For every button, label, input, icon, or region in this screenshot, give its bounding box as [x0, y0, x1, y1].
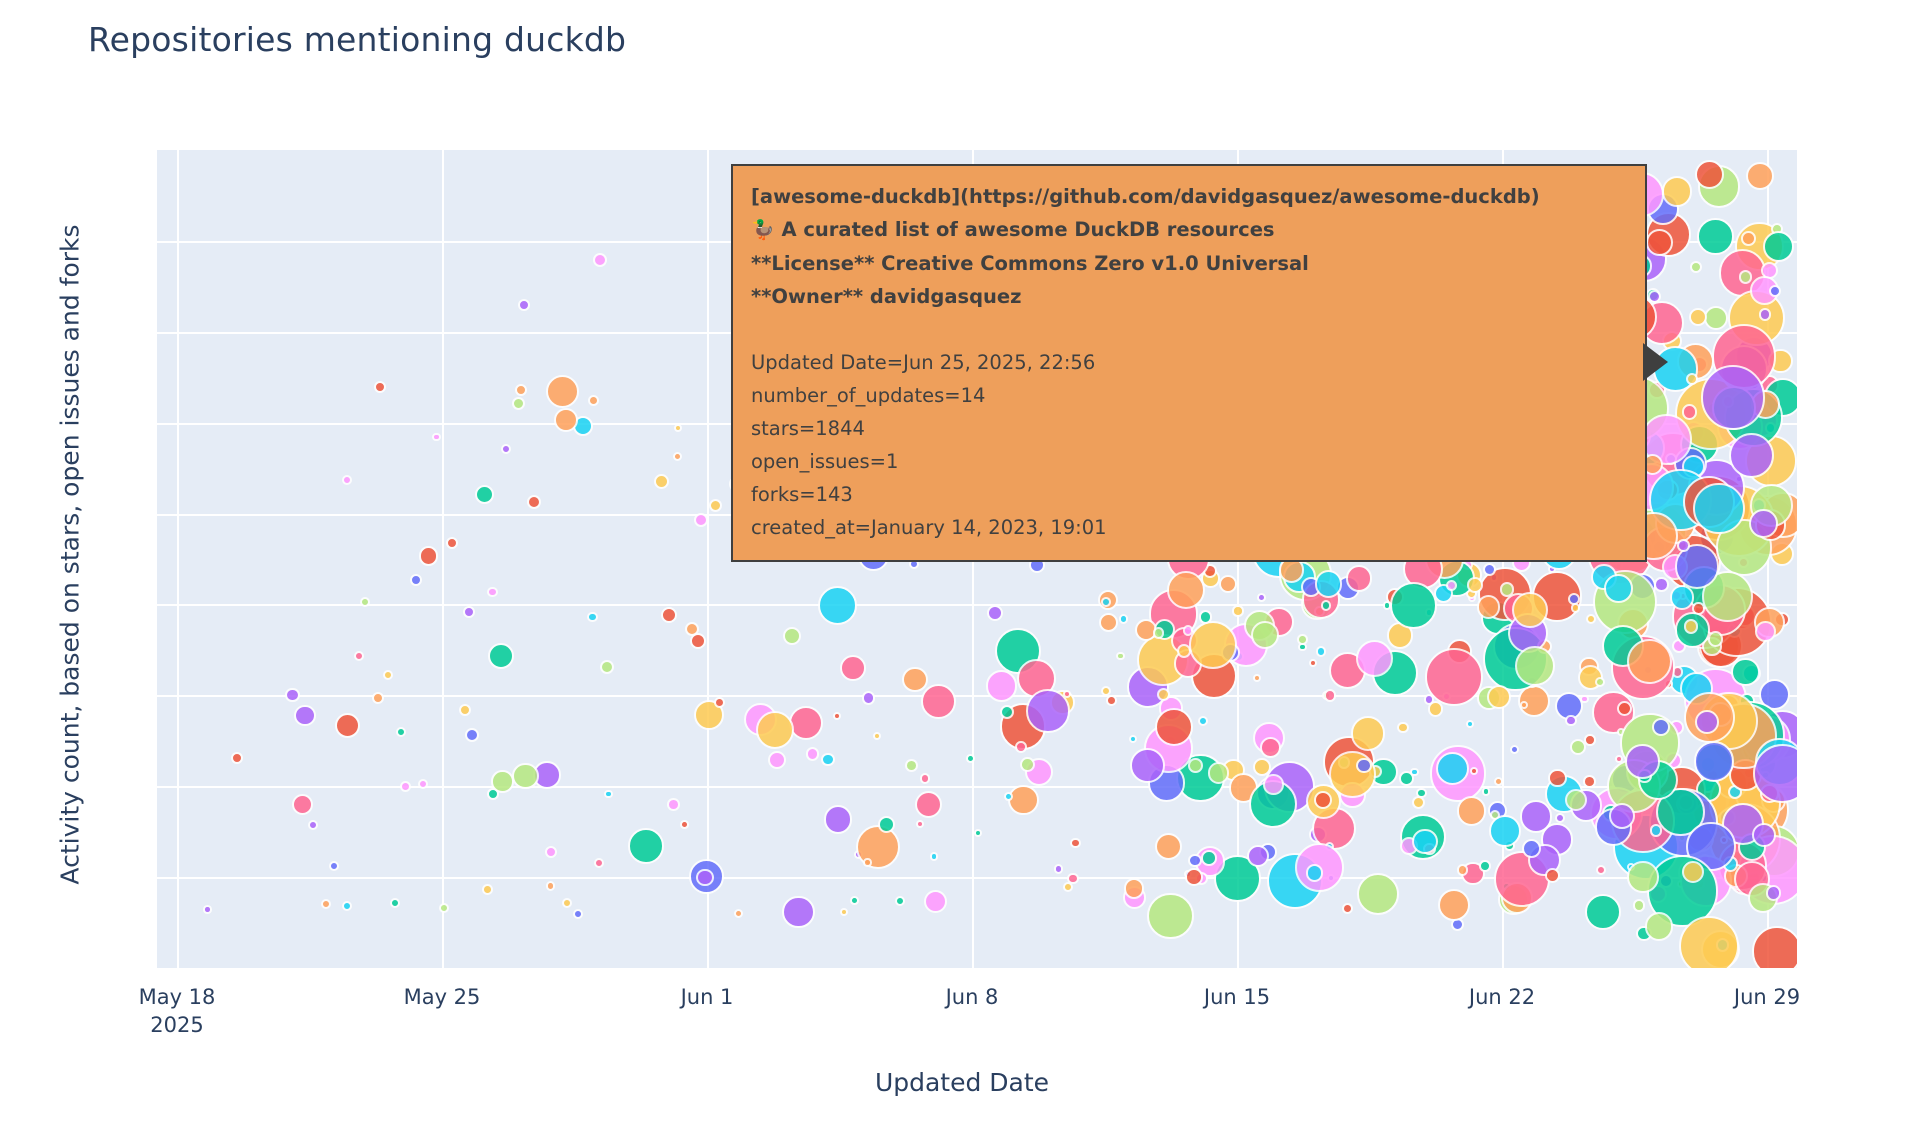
scatter-bubble[interactable] [400, 781, 411, 792]
scatter-bubble[interactable] [1257, 593, 1266, 602]
scatter-bubble[interactable] [1147, 893, 1194, 940]
x-tick-text: May 25 [404, 985, 481, 1009]
scatter-bubble[interactable] [1684, 619, 1698, 633]
scatter-bubble[interactable] [1596, 865, 1606, 875]
scatter-bubble[interactable] [1099, 613, 1119, 633]
scatter-bubble[interactable] [1436, 752, 1469, 785]
x-axis-title: Updated Date [0, 1068, 1924, 1097]
scatter-bubble[interactable] [1321, 600, 1331, 610]
scatter-bubble[interactable] [1198, 716, 1209, 727]
scatter-bubble[interactable] [680, 820, 689, 829]
page-title: Repositories mentioning duckdb [88, 20, 626, 59]
scatter-bubble[interactable] [593, 253, 607, 267]
scatter-bubble[interactable] [1487, 685, 1511, 709]
tooltip-license: **License** Creative Commons Zero v1.0 U… [751, 247, 1627, 280]
scatter-bubble[interactable] [546, 375, 579, 408]
scatter-bubble[interactable] [342, 475, 352, 485]
scatter-bubble[interactable] [1682, 404, 1697, 419]
scatter-bubble[interactable] [1583, 775, 1596, 788]
scatter-bubble[interactable] [419, 546, 439, 566]
scatter-bubble[interactable] [1627, 861, 1658, 892]
scatter-bubble[interactable] [862, 691, 876, 705]
scatter-bubble[interactable] [1489, 815, 1521, 847]
scatter-bubble[interactable] [1755, 621, 1776, 642]
scatter-bubble[interactable] [432, 433, 440, 441]
scatter-bubble[interactable] [1670, 585, 1695, 610]
scatter-bubble[interactable] [1438, 889, 1471, 922]
scatter-bubble[interactable] [1697, 218, 1734, 255]
scatter-bubble[interactable] [1054, 864, 1064, 874]
scatter-bubble[interactable] [573, 909, 583, 919]
scatter-bubble[interactable] [491, 770, 513, 792]
scatter-bubble[interactable] [487, 587, 497, 597]
scatter-bubble[interactable] [1708, 631, 1724, 647]
scatter-bubble[interactable] [1645, 912, 1674, 941]
scatter-bubble[interactable] [1351, 716, 1386, 751]
duck-icon: 🦆 [751, 219, 775, 241]
scatter-bubble[interactable] [1759, 308, 1771, 320]
scatter-bubble[interactable] [231, 752, 243, 764]
scatter-bubble[interactable] [1247, 845, 1269, 867]
scatter-bubble[interactable] [1316, 646, 1326, 656]
scatter-bubble[interactable] [410, 574, 422, 586]
scatter-bubble[interactable] [1428, 701, 1444, 717]
scatter-bubble[interactable] [354, 651, 364, 661]
scatter-bubble[interactable] [512, 397, 525, 410]
hover-tooltip: [awesome-duckdb](https://github.com/davi… [731, 164, 1647, 562]
scatter-bubble[interactable] [1251, 621, 1279, 649]
scatter-bubble[interactable] [475, 485, 495, 505]
scatter-bubble[interactable] [1633, 899, 1645, 911]
scatter-bubble[interactable] [335, 713, 360, 738]
scatter-bubble[interactable] [915, 791, 942, 818]
gridline-vertical [707, 150, 709, 968]
scatter-bubble[interactable] [1693, 483, 1744, 534]
scatter-bubble[interactable] [1390, 582, 1437, 629]
scatter-bubble[interactable] [1466, 720, 1474, 728]
scatter-bubble[interactable] [987, 605, 1003, 621]
scatter-bubble[interactable] [1263, 774, 1284, 795]
scatter-bubble[interactable] [1155, 833, 1182, 860]
scatter-bubble[interactable] [1208, 762, 1230, 784]
x-tick-text: Jun 1 [681, 985, 734, 1009]
scatter-bubble[interactable] [1749, 509, 1778, 538]
scatter-bubble[interactable] [734, 909, 743, 918]
scatter-bubble[interactable] [661, 607, 678, 624]
scatter-bubble[interactable] [921, 684, 956, 719]
scatter-bubble[interactable] [1119, 614, 1128, 623]
scatter-bubble[interactable] [1520, 701, 1528, 709]
scatter-bubble[interactable] [1548, 769, 1566, 787]
scatter-bubble[interactable] [1746, 162, 1774, 190]
x-axis-tick-label: Jun 29 [1734, 985, 1800, 1009]
scatter-bubble[interactable] [1346, 565, 1372, 591]
scatter-bubble[interactable] [1704, 306, 1728, 330]
scatter-bubble[interactable] [1356, 758, 1372, 774]
scatter-bubble[interactable] [482, 884, 493, 895]
gridline-vertical [177, 150, 179, 968]
scatter-bubble[interactable] [501, 444, 511, 454]
scatter-bubble[interactable] [1183, 625, 1193, 635]
scatter-bubble[interactable] [518, 299, 530, 311]
scatter-bubble[interactable] [1555, 813, 1565, 823]
scatter-bubble[interactable] [600, 660, 614, 674]
scatter-bubble[interactable] [1130, 748, 1165, 783]
scatter-bubble[interactable] [1177, 644, 1191, 658]
scatter-bubble[interactable] [342, 901, 352, 911]
scatter-bubble[interactable] [628, 828, 664, 864]
scatter-bubble[interactable] [1067, 873, 1079, 885]
scatter-bubble[interactable] [1153, 627, 1165, 639]
scatter-bubble[interactable] [1752, 926, 1797, 968]
scatter-bubble[interactable] [714, 697, 725, 708]
scatter-bubble[interactable] [321, 899, 331, 909]
scatter-bubble[interactable] [1070, 838, 1081, 849]
scatter-bubble[interactable] [292, 794, 313, 815]
x-tick-text: May 18 [139, 985, 216, 1009]
scatter-bubble[interactable] [512, 763, 538, 789]
gridline-vertical [442, 150, 444, 968]
scatter-bubble[interactable] [1565, 789, 1587, 811]
scatter-bubble[interactable] [1520, 800, 1553, 833]
tooltip-description-text: A curated list of awesome DuckDB resourc… [781, 218, 1274, 241]
scatter-bubble[interactable] [818, 586, 857, 625]
scatter-bubble[interactable] [1690, 261, 1703, 274]
scatter-bubble[interactable] [1106, 695, 1117, 706]
x-axis-tick-label: Jun 15 [1204, 985, 1270, 1009]
scatter-bubble[interactable] [1479, 860, 1491, 872]
tooltip-pointer-arrow [1645, 345, 1667, 379]
scatter-bubble[interactable] [383, 670, 393, 680]
scatter-bubble[interactable] [986, 670, 1017, 701]
scatter-bubble[interactable] [1604, 574, 1633, 603]
scatter-bubble[interactable] [806, 747, 820, 761]
scatter-bubble[interactable] [850, 896, 859, 905]
scatter-bubble[interactable] [1342, 903, 1353, 914]
scatter-bubble[interactable] [554, 408, 578, 432]
scatter-bubble[interactable] [654, 474, 669, 489]
scatter-bubble[interactable] [1219, 575, 1237, 593]
scatter-bubble[interactable] [1769, 285, 1781, 297]
scatter-bubble[interactable] [768, 751, 787, 770]
scatter-bubble[interactable] [783, 627, 801, 645]
scatter-bubble[interactable] [439, 903, 449, 913]
scatter-bubble[interactable] [1199, 610, 1213, 624]
scatter-bubble[interactable] [1201, 850, 1217, 866]
scatter-bubble[interactable] [756, 711, 794, 749]
scatter-bubble[interactable] [1682, 861, 1704, 883]
scatter-bubble[interactable] [285, 688, 300, 703]
scatter-bubble[interactable] [856, 825, 900, 869]
scatter-bubble[interactable] [782, 896, 814, 928]
scatter-bubble[interactable] [1315, 570, 1343, 598]
scatter-bubble[interactable] [1731, 658, 1759, 686]
scatter-bubble[interactable] [527, 495, 541, 509]
scatter-bubble[interactable] [821, 753, 835, 767]
scatter-bubble[interactable] [562, 898, 572, 908]
scatter-bubble[interactable] [1297, 634, 1308, 645]
tooltip-forks: forks=143 [751, 478, 1627, 511]
scatter-bubble[interactable] [308, 820, 318, 830]
tooltip-updated-date: Updated Date=Jun 25, 2025, 22:56 [751, 346, 1627, 379]
scatter-bubble[interactable] [1510, 745, 1519, 754]
scatter-bubble[interactable] [824, 805, 853, 834]
scatter-bubble[interactable] [667, 798, 680, 811]
scatter-bubble[interactable] [203, 905, 212, 914]
x-tick-text: Jun 15 [1204, 985, 1270, 1009]
scatter-bubble[interactable] [1515, 646, 1555, 686]
scatter-bubble[interactable] [515, 384, 527, 396]
x-axis-tick-label: Jun 1 [681, 985, 734, 1009]
scatter-bubble[interactable] [840, 655, 866, 681]
scatter-bubble[interactable] [1167, 571, 1205, 609]
scatter-bubble[interactable] [1766, 885, 1782, 901]
scatter-bubble[interactable] [1627, 639, 1672, 684]
tooltip-open-issues: open_issues=1 [751, 445, 1627, 478]
scatter-bubble[interactable] [1625, 744, 1660, 779]
scatter-bubble[interactable] [1185, 868, 1203, 886]
scatter-bubble[interactable] [920, 773, 930, 783]
scatter-bubble[interactable] [863, 858, 872, 867]
scatter-bubble[interactable] [588, 395, 599, 406]
scatter-bubble[interactable] [1309, 659, 1317, 667]
scatter-bubble[interactable] [1015, 741, 1027, 753]
scatter-bubble[interactable] [674, 424, 682, 432]
scatter-bubble[interactable] [1679, 916, 1739, 968]
scatter-bubble[interactable] [1586, 614, 1596, 624]
scatter-bubble[interactable] [1232, 605, 1243, 616]
scatter-bubble[interactable] [1008, 785, 1039, 816]
scatter-bubble[interactable] [594, 858, 605, 869]
tooltip-created-at: created_at=January 14, 2023, 19:01 [751, 511, 1627, 544]
scatter-bubble[interactable] [840, 908, 848, 916]
scatter-bubble[interactable] [329, 861, 339, 871]
scatter-bubble[interactable] [1129, 735, 1137, 743]
scatter-bubble[interactable] [1585, 894, 1621, 930]
scatter-bubble[interactable] [1646, 229, 1673, 256]
scatter-bubble[interactable] [1412, 796, 1425, 809]
gridline-horizontal [157, 695, 1797, 697]
scatter-bubble[interactable] [694, 513, 708, 527]
scatter-bubble[interactable] [1020, 757, 1035, 772]
scatter-bubble[interactable] [1695, 710, 1719, 734]
x-tick-year: 2025 [139, 1013, 216, 1037]
scatter-bubble[interactable] [789, 706, 823, 740]
scatter-bubble[interactable] [1397, 722, 1409, 734]
scatter-bubble[interactable] [1694, 741, 1734, 781]
scatter-bubble[interactable] [1253, 674, 1261, 682]
tooltip-stars: stars=1844 [751, 412, 1627, 445]
tooltip-spacer [751, 313, 1627, 346]
scatter-bubble[interactable] [1701, 365, 1765, 429]
scatter-bubble[interactable] [488, 643, 515, 670]
scatter-bubble[interactable] [1399, 771, 1414, 786]
scatter-bubble[interactable] [974, 829, 982, 837]
scatter-bubble[interactable] [1467, 577, 1483, 593]
scatter-bubble[interactable] [1482, 787, 1491, 796]
scatter-bubble[interactable] [1545, 868, 1560, 883]
x-tick-text: Jun 8 [946, 985, 999, 1009]
scatter-bubble[interactable] [902, 667, 927, 692]
scatter-bubble[interactable] [546, 881, 555, 890]
scatter-bubble[interactable] [930, 852, 939, 861]
x-tick-text: Jun 22 [1469, 985, 1535, 1009]
scatter-bubble[interactable] [1260, 737, 1281, 758]
scatter-bubble[interactable] [1101, 686, 1111, 696]
scatter-bubble[interactable] [1357, 873, 1399, 915]
scatter-bubble[interactable] [833, 712, 841, 720]
x-tick-text: Jun 29 [1734, 985, 1800, 1009]
scatter-bubble[interactable] [1324, 689, 1337, 702]
scatter-bubble[interactable] [446, 537, 458, 549]
scatter-bubble[interactable] [1654, 577, 1669, 592]
scatter-bubble[interactable] [1763, 231, 1794, 262]
scatter-bubble[interactable] [1570, 739, 1586, 755]
scatter-bubble[interactable] [873, 732, 882, 741]
scatter-bubble[interactable] [396, 727, 406, 737]
scatter-bubble[interactable] [905, 759, 918, 772]
scatter-bubble[interactable] [1425, 648, 1483, 706]
scatter-bubble[interactable] [1686, 373, 1698, 385]
scatter-bubble[interactable] [1124, 878, 1145, 899]
scatter-bubble[interactable] [545, 846, 557, 858]
tooltip-description: 🦆 A curated list of awesome DuckDB resou… [751, 213, 1627, 247]
x-axis-tick-label: Jun 8 [946, 985, 999, 1009]
x-axis-tick-label: Jun 22 [1469, 985, 1535, 1009]
tooltip-number-of-updates: number_of_updates=14 [751, 379, 1627, 412]
scatter-bubble[interactable] [1116, 652, 1124, 660]
scatter-bubble[interactable] [1595, 677, 1605, 687]
scatter-bubble[interactable] [1004, 792, 1013, 801]
scatter-bubble[interactable] [1494, 777, 1503, 786]
scatter-bubble[interactable] [709, 499, 722, 512]
scatter-bubble[interactable] [916, 820, 924, 828]
scatter-bubble[interactable] [390, 898, 400, 908]
scatter-bubble[interactable] [1306, 864, 1323, 881]
scatter-bubble[interactable] [1584, 734, 1596, 746]
scatter-bubble[interactable] [374, 381, 386, 393]
scatter-bubble[interactable] [587, 612, 598, 623]
scatter-bubble[interactable] [465, 728, 479, 742]
y-axis-title: Activity count, based on stars, open iss… [56, 175, 85, 935]
x-axis-tick-label: May 182025 [139, 985, 216, 1037]
scatter-bubble[interactable] [1457, 796, 1487, 826]
tooltip-repo-link: [awesome-duckdb](https://github.com/davi… [751, 180, 1627, 213]
x-axis-tick-label: May 25 [404, 985, 481, 1009]
scatter-bubble[interactable] [372, 692, 384, 704]
scatter-bubble[interactable] [1729, 433, 1775, 479]
scatter-bubble[interactable] [895, 896, 905, 906]
scatter-bubble[interactable] [604, 790, 612, 798]
scatter-bubble[interactable] [1662, 176, 1693, 207]
scatter-bubble[interactable] [673, 452, 682, 461]
scatter-bubble[interactable] [924, 890, 947, 913]
scatter-bubble[interactable] [418, 779, 428, 789]
scatter-bubble[interactable] [459, 704, 471, 716]
scatter-bubble[interactable] [1741, 231, 1756, 246]
scatter-bubble[interactable] [294, 705, 315, 726]
scatter-bubble[interactable] [1500, 582, 1514, 596]
tooltip-owner: **Owner** davidgasquez [751, 280, 1627, 313]
scatter-bubble[interactable] [1565, 715, 1576, 726]
scatter-bubble[interactable] [463, 606, 475, 618]
scatter-bubble[interactable] [1477, 595, 1500, 618]
